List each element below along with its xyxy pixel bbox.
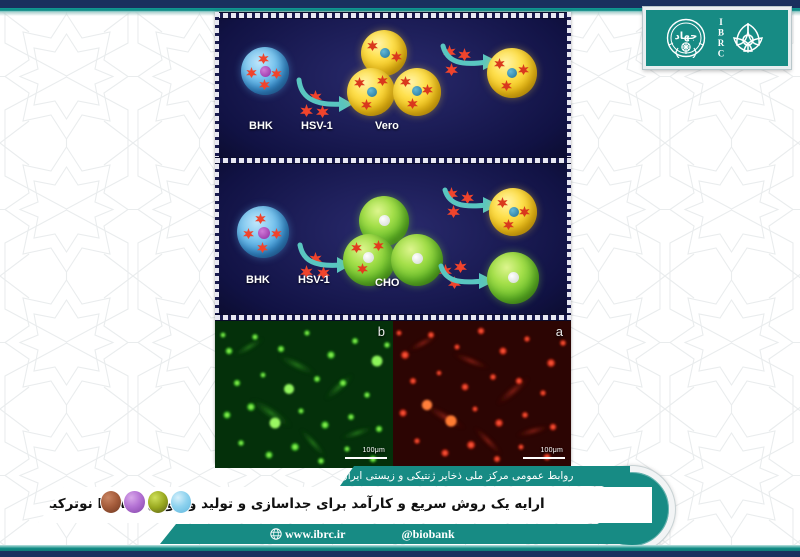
virus-particle-icon [519,206,530,217]
jahad-daneshgahi-seal: جهاد [666,18,706,58]
panel-left-dashed-border [215,12,219,157]
label-hsv1: HSV-1 [298,274,330,286]
micrograph-row: a 100μm [215,321,571,468]
virus-particle-icon [357,263,368,274]
panel-right-dashed-border [567,12,571,157]
virus-particle-icon [518,64,529,75]
virus-particle-icon [361,99,372,110]
thumb-cyan-specimen[interactable] [170,490,192,514]
virus-particle-icon [494,58,505,69]
bhk-nucleus [258,227,270,239]
label-vero: Vero [375,120,399,132]
virus-particle-icon [271,68,282,79]
label-bhk: BHK [249,120,273,132]
cho-nucleus [508,272,519,283]
thumb-olive-specimen[interactable] [147,490,169,514]
ibrc-leaf-logo-icon [728,18,768,58]
virus-particle-icon [391,51,402,62]
virus-particle-icon [259,79,270,90]
virus-particle-icon [258,53,269,64]
virus-particle-icon [271,228,282,239]
scale-bar-a [523,457,565,459]
panel-divider-dashed [215,157,571,164]
virus-particle-icon [354,77,365,88]
website-text: www.ibrc.ir [285,527,345,542]
bottom-navy-bar [0,551,800,557]
public-relations-text: روابط عمومی مرکز ملی ذخایر ژنتیکی و زیست… [340,471,573,482]
virus-particle-icon [377,75,388,86]
footer-links-band: www.ibrc.ir @biobank [160,524,640,544]
ibrc-logo: IBRC [716,17,768,59]
virus-particle-icon [503,219,514,230]
virus-particle-icon [246,67,257,78]
cho-nucleus [412,253,423,264]
panel-right-dashed-border [567,164,571,314]
social-handle[interactable]: @biobank [401,527,454,542]
virus-particle-icon [497,197,508,208]
panel-top-dashed-border [215,12,571,19]
public-relations-band: روابط عمومی مرکز ملی ذخایر ژنتیکی و زیست… [340,466,630,486]
label-bhk: BHK [246,274,270,286]
thumb-purple-specimen[interactable] [123,490,145,514]
virus-particle-icon [243,228,254,239]
cho-nucleus [363,252,374,263]
virus-particle-icon [407,98,418,109]
diagram-panel-vero: BHK HSV-1 Vero [215,12,571,157]
micrograph-panel-a: a 100μm [393,321,571,468]
virus-particle-icon [367,40,378,51]
diagram-panel-cho: BHK HSV-1 CHO [215,164,571,314]
scientific-figure: BHK HSV-1 Vero [215,12,571,464]
micrograph-label-b: b [378,324,385,339]
micrograph-panel-b: b 100μm [215,321,393,468]
label-cho: CHO [375,277,399,289]
ibrc-letters: IBRC [716,17,725,59]
virus-particle-icon [422,84,433,95]
thumb-brown-specimen[interactable] [100,490,122,514]
specimen-thumbnail-strip [100,489,192,515]
scale-bar-b [345,457,387,459]
micrograph-label-a: a [556,324,563,339]
scale-label-a: 100μm [540,447,563,454]
virus-particle-icon [501,80,512,91]
social-handle-text: @biobank [401,527,454,542]
panel-left-dashed-border [215,164,219,314]
globe-icon [270,528,282,540]
website-link[interactable]: www.ibrc.ir [270,527,345,542]
vero-nucleus [412,86,422,96]
label-hsv1: HSV-1 [301,120,333,132]
virus-particle-icon [373,240,384,251]
cho-nucleus [379,215,390,226]
virus-particle-icon [400,76,411,87]
virus-particle-icon [255,213,266,224]
virus-particle-icon [351,242,362,253]
vero-nucleus [380,48,390,58]
scale-label-b: 100μm [362,447,385,454]
vero-nucleus [367,87,377,97]
ibrc-logo-box[interactable]: IBRC جهاد [643,7,791,69]
panel-divider-dashed [215,314,571,321]
bhk-nucleus [260,66,271,77]
vero-nucleus [509,207,519,217]
svg-text:جهاد: جهاد [675,31,698,42]
screenshot-root: IBRC جهاد [0,0,800,557]
transfer-arrow-icon [293,74,353,116]
virus-particle-icon [257,242,268,253]
vero-nucleus [507,68,517,78]
